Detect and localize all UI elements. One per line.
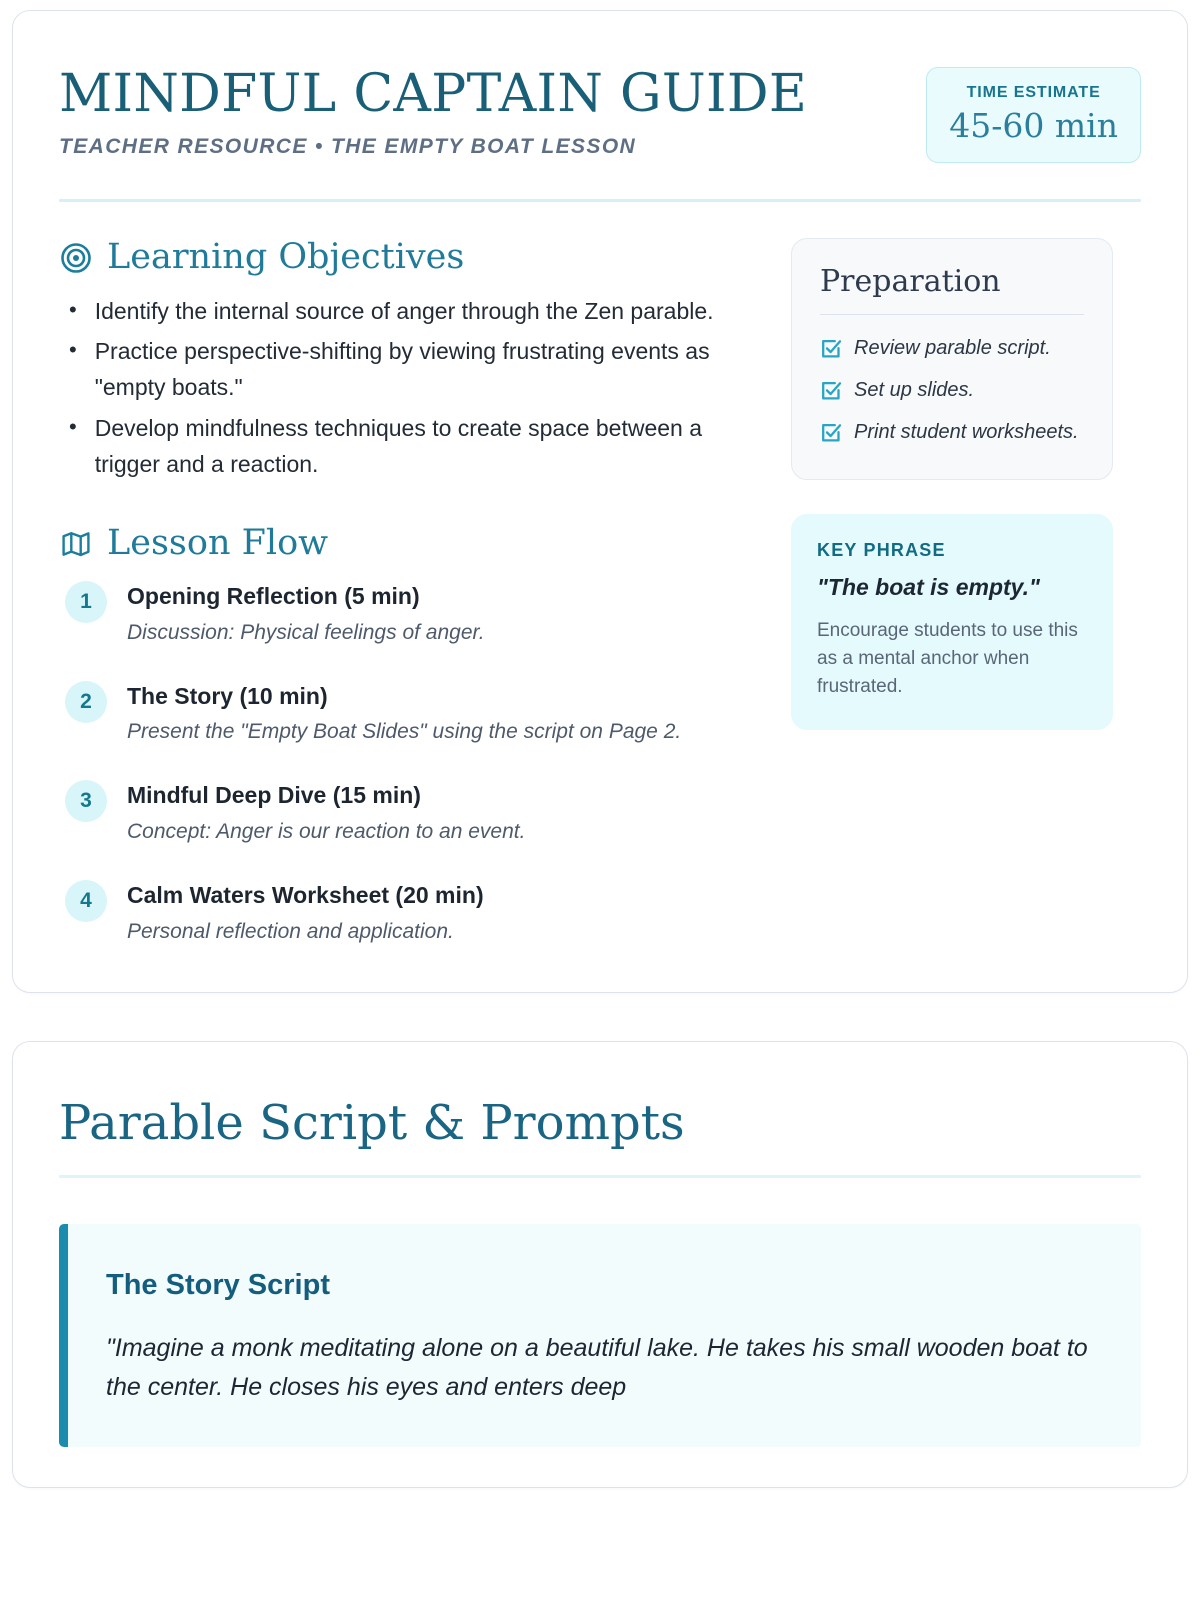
objectives-list: • Identify the internal source of anger … bbox=[59, 293, 749, 483]
time-estimate-value: 45-60 min bbox=[949, 108, 1118, 144]
step-title: Mindful Deep Dive (15 min) bbox=[127, 781, 525, 810]
parable-script-card: Parable Script & Prompts The Story Scrip… bbox=[12, 1041, 1188, 1489]
document-header: MINDFUL CAPTAIN GUIDE TEACHER RESOURCE •… bbox=[59, 61, 1141, 163]
bullet-icon: • bbox=[69, 293, 77, 329]
checkbox-checked-icon[interactable] bbox=[820, 338, 842, 365]
sidebar-column: Preparation Review parable script. bbox=[791, 238, 1113, 730]
preparation-title: Preparation bbox=[820, 265, 1084, 298]
list-item: • Identify the internal source of anger … bbox=[59, 293, 749, 329]
key-phrase-label: KEY PHRASE bbox=[817, 540, 1087, 561]
page-title: MINDFUL CAPTAIN GUIDE bbox=[59, 67, 807, 121]
step-body: The Story (10 min) Present the "Empty Bo… bbox=[127, 679, 681, 749]
step-description: Present the "Empty Boat Slides" using th… bbox=[127, 716, 681, 748]
learning-objectives-section: Learning Objectives • Identify the inter… bbox=[59, 238, 749, 482]
time-estimate-label: TIME ESTIMATE bbox=[949, 84, 1118, 102]
objective-text: Identify the internal source of anger th… bbox=[95, 293, 714, 329]
key-phrase-note: Encourage students to use this as a ment… bbox=[817, 617, 1087, 700]
main-column: Learning Objectives • Identify the inter… bbox=[59, 238, 749, 947]
lesson-flow-section: Lesson Flow 1 Opening Reflection (5 min)… bbox=[59, 524, 749, 947]
lesson-flow-title: Lesson Flow bbox=[107, 524, 328, 563]
step-title: The Story (10 min) bbox=[127, 682, 681, 711]
step-description: Discussion: Physical feelings of anger. bbox=[127, 617, 485, 649]
target-icon bbox=[59, 241, 93, 275]
list-item: 3 Mindful Deep Dive (15 min) Concept: An… bbox=[59, 778, 749, 848]
bullet-icon: • bbox=[69, 333, 77, 406]
step-title: Calm Waters Worksheet (20 min) bbox=[127, 881, 484, 910]
step-body: Calm Waters Worksheet (20 min) Personal … bbox=[127, 878, 484, 948]
step-body: Mindful Deep Dive (15 min) Concept: Ange… bbox=[127, 778, 525, 848]
key-phrase-card: KEY PHRASE "The boat is empty." Encourag… bbox=[791, 514, 1113, 730]
bullet-icon: • bbox=[69, 410, 77, 483]
step-number-badge: 4 bbox=[65, 880, 107, 922]
step-number-badge: 1 bbox=[65, 581, 107, 623]
list-item[interactable]: Print student worksheets. bbox=[820, 419, 1084, 449]
checkbox-checked-icon[interactable] bbox=[820, 380, 842, 407]
list-item[interactable]: Review parable script. bbox=[820, 335, 1084, 365]
story-script-title: The Story Script bbox=[106, 1268, 1101, 1303]
guide-card: MINDFUL CAPTAIN GUIDE TEACHER RESOURCE •… bbox=[12, 10, 1188, 993]
learning-objectives-header: Learning Objectives bbox=[59, 238, 749, 277]
story-script-box: The Story Script "Imagine a monk meditat… bbox=[59, 1224, 1141, 1447]
script-section-divider bbox=[59, 1175, 1141, 1178]
story-script-text: "Imagine a monk meditating alone on a be… bbox=[106, 1329, 1101, 1407]
key-phrase-quote: "The boat is empty." bbox=[817, 573, 1087, 603]
list-item[interactable]: Set up slides. bbox=[820, 377, 1084, 407]
preparation-divider bbox=[820, 314, 1084, 315]
lesson-flow-header: Lesson Flow bbox=[59, 524, 749, 563]
title-block: MINDFUL CAPTAIN GUIDE TEACHER RESOURCE •… bbox=[59, 61, 807, 159]
list-item: 2 The Story (10 min) Present the "Empty … bbox=[59, 679, 749, 749]
step-body: Opening Reflection (5 min) Discussion: P… bbox=[127, 579, 485, 649]
objective-text: Practice perspective-shifting by viewing… bbox=[95, 333, 749, 406]
preparation-item-text: Review parable script. bbox=[854, 335, 1051, 365]
step-title: Opening Reflection (5 min) bbox=[127, 582, 485, 611]
script-section-title: Parable Script & Prompts bbox=[59, 1098, 1141, 1150]
step-number-badge: 2 bbox=[65, 681, 107, 723]
list-item: • Develop mindfulness techniques to crea… bbox=[59, 410, 749, 483]
guide-body: Learning Objectives • Identify the inter… bbox=[59, 238, 1141, 947]
objective-text: Develop mindfulness techniques to create… bbox=[95, 410, 749, 483]
header-divider bbox=[59, 199, 1141, 202]
list-item: 4 Calm Waters Worksheet (20 min) Persona… bbox=[59, 878, 749, 948]
list-item: • Practice perspective-shifting by viewi… bbox=[59, 333, 749, 406]
step-number-badge: 3 bbox=[65, 780, 107, 822]
preparation-item-text: Print student worksheets. bbox=[854, 419, 1079, 449]
preparation-item-text: Set up slides. bbox=[854, 377, 974, 407]
list-item: 1 Opening Reflection (5 min) Discussion:… bbox=[59, 579, 749, 649]
step-description: Concept: Anger is our reaction to an eve… bbox=[127, 816, 525, 848]
page-subtitle: TEACHER RESOURCE • THE EMPTY BOAT LESSON bbox=[59, 135, 807, 159]
map-icon bbox=[59, 527, 93, 561]
checkbox-checked-icon[interactable] bbox=[820, 422, 842, 449]
learning-objectives-title: Learning Objectives bbox=[107, 238, 464, 277]
time-estimate-badge: TIME ESTIMATE 45-60 min bbox=[926, 67, 1141, 163]
step-description: Personal reflection and application. bbox=[127, 916, 484, 948]
preparation-card: Preparation Review parable script. bbox=[791, 238, 1113, 480]
preparation-list: Review parable script. Set up slides. bbox=[820, 335, 1084, 449]
